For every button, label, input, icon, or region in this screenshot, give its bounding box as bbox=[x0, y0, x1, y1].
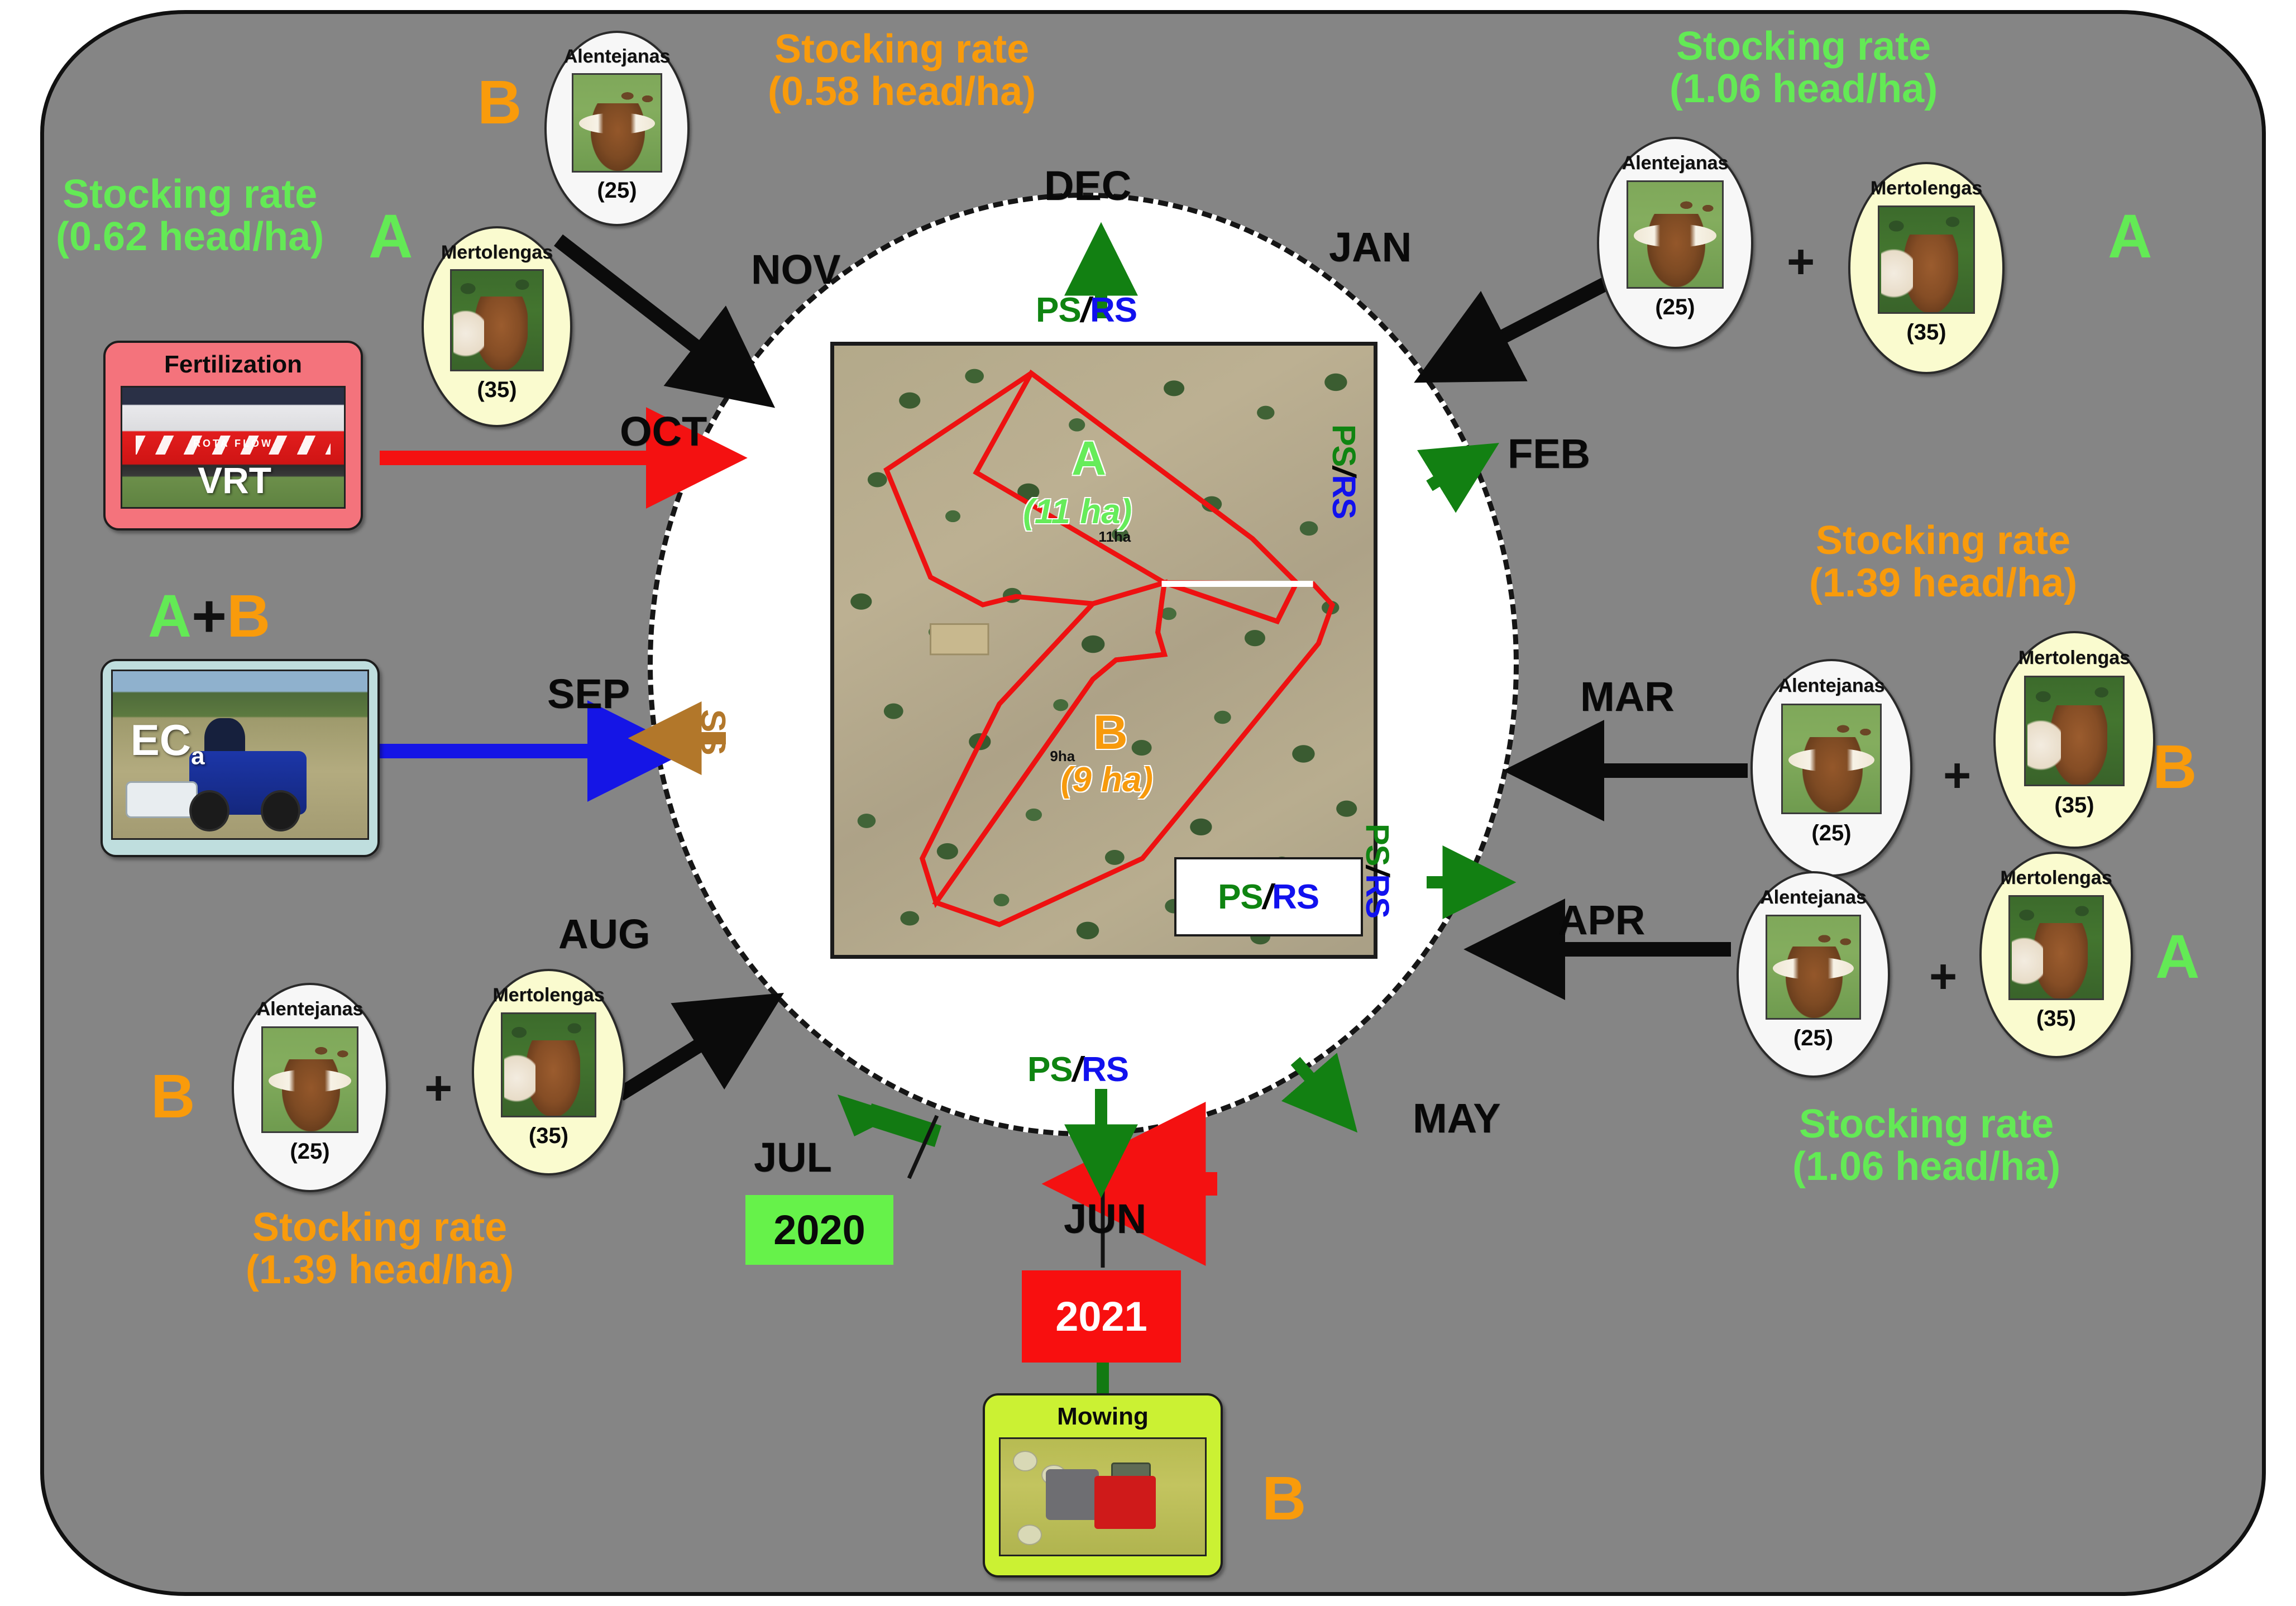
month-sep: SEP bbox=[547, 670, 630, 718]
mertolengas-photo bbox=[450, 269, 544, 371]
month-jul: JUL bbox=[754, 1134, 832, 1181]
month-dec: DEC bbox=[1044, 162, 1131, 209]
stocking-rate-line1: Stocking rate bbox=[1809, 519, 2077, 562]
diagram-canvas: A (11 ha) 11ha B 9ha (9 ha) PS/RS PS/RS … bbox=[0, 0, 2296, 1606]
breed-count: (25) bbox=[1655, 295, 1695, 320]
paddock-letter-mar-b: B bbox=[2152, 732, 2197, 802]
breed-count: (25) bbox=[597, 178, 637, 203]
plus-sign-aug: + bbox=[424, 1061, 452, 1116]
alentejanas-photo bbox=[1766, 915, 1861, 1020]
stocking-rate-line1: Stocking rate bbox=[1792, 1103, 2060, 1145]
cattle-mertolengas-jan[interactable]: Mertolengas (35) bbox=[1848, 162, 2005, 374]
stocking-rate-line2: (1.39 head/ha) bbox=[1809, 562, 2077, 604]
stocking-rate-nov-b: Stocking rate (0.58 head/ha) bbox=[768, 28, 1036, 113]
cattle-alentejanas-mar[interactable]: Alentejanas (25) bbox=[1750, 659, 1912, 877]
stocking-rate-line2: (1.06 head/ha) bbox=[1792, 1145, 2060, 1188]
month-feb: FEB bbox=[1508, 430, 1590, 477]
stocking-rate-line2: (0.62 head/ha) bbox=[56, 216, 324, 258]
paddock-letter-nov-b: B bbox=[477, 67, 522, 138]
stocking-rate-line2: (1.06 head/ha) bbox=[1670, 68, 1938, 110]
rs-label: RS bbox=[1272, 878, 1319, 916]
paddock-letter-jan-a: A bbox=[2108, 201, 2152, 272]
fertilization-card[interactable]: Fertilization ROTA FLOW VRT bbox=[103, 341, 363, 530]
paddock-a-area-small: 11ha bbox=[1098, 528, 1131, 546]
eca-overlay-label: ECa bbox=[131, 715, 205, 771]
stocking-rate-line1: Stocking rate bbox=[768, 28, 1036, 70]
wheel-front bbox=[189, 790, 229, 831]
paddock-letter-b: B bbox=[227, 582, 270, 649]
paddock-letter-a: A bbox=[148, 582, 192, 649]
plus-sign-eca: + bbox=[192, 582, 227, 649]
paddock-b-letter: B bbox=[1093, 705, 1128, 761]
cattle-alentejanas-jan[interactable]: Alentejanas (25) bbox=[1597, 137, 1753, 349]
stocking-rate-line1: Stocking rate bbox=[1670, 25, 1938, 68]
slash-label: / bbox=[1263, 878, 1272, 916]
breed-count: (25) bbox=[1793, 1026, 1833, 1051]
psrs-may: PS/RS bbox=[1359, 824, 1396, 918]
breed-count: (35) bbox=[2054, 793, 2094, 818]
stocking-rate-oct-a: Stocking rate (0.62 head/ha) bbox=[56, 173, 324, 259]
paddock-letter-mowing-b: B bbox=[1262, 1463, 1306, 1534]
stocking-rate-apr-a: Stocking rate (1.06 head/ha) bbox=[1792, 1103, 2060, 1188]
cattle-mertolengas-nov[interactable]: Mertolengas (35) bbox=[422, 226, 572, 427]
ss-label: SS bbox=[693, 709, 733, 756]
plus-sign-jan: + bbox=[1787, 235, 1815, 290]
cattle-alentejanas-apr[interactable]: Alentejanas (25) bbox=[1737, 871, 1890, 1078]
cattle-mertolengas-aug[interactable]: Mertolengas (35) bbox=[472, 969, 625, 1175]
vrt-overlay-label: VRT bbox=[198, 459, 271, 501]
breed-count: (35) bbox=[529, 1124, 568, 1149]
ps-label: PS bbox=[1218, 878, 1263, 916]
breed-name: Alentejanas bbox=[1760, 887, 1867, 909]
mertolengas-photo bbox=[2024, 676, 2125, 787]
plus-sign-apr: + bbox=[1929, 949, 1957, 1005]
eca-group-letters: A+B bbox=[148, 581, 270, 651]
fertilizer-spreader-photo: ROTA FLOW VRT bbox=[121, 386, 345, 508]
wheel-rear bbox=[261, 790, 301, 831]
stocking-rate-aug-b: Stocking rate (1.39 head/ha) bbox=[246, 1206, 514, 1292]
hay-bale bbox=[1013, 1451, 1037, 1471]
month-may: MAY bbox=[1413, 1094, 1501, 1142]
stocking-rate-line1: Stocking rate bbox=[56, 173, 324, 216]
psrs-legend-box: PS/RS bbox=[1174, 857, 1363, 936]
breed-name: Alentejanas bbox=[257, 998, 363, 1020]
eca-quad-photo: ECa bbox=[111, 670, 369, 840]
mowing-title: Mowing bbox=[1057, 1403, 1149, 1431]
breed-name: Mertolengas bbox=[441, 242, 553, 264]
paddock-letter-oct-a: A bbox=[369, 201, 413, 272]
alentejanas-photo bbox=[572, 73, 662, 173]
tractor-body bbox=[1094, 1476, 1156, 1529]
eca-survey-card[interactable]: ECa bbox=[101, 659, 380, 857]
psrs-jun: PS/RS bbox=[1027, 1050, 1128, 1089]
breed-name: Mertolengas bbox=[492, 984, 604, 1006]
stocking-rate-line2: (0.58 head/ha) bbox=[768, 70, 1036, 113]
mertolengas-photo bbox=[2008, 895, 2104, 1000]
eca-sensor-sled bbox=[126, 781, 198, 818]
breed-count: (35) bbox=[1906, 320, 1946, 345]
breed-name: Mertolengas bbox=[1871, 178, 1982, 199]
psrs-dec: PS/RS bbox=[1036, 290, 1137, 330]
month-nov: NOV bbox=[751, 246, 840, 293]
satellite-paddock-map: A (11 ha) 11ha B 9ha (9 ha) PS/RS bbox=[830, 342, 1377, 959]
cattle-mertolengas-apr[interactable]: Mertolengas (35) bbox=[1979, 852, 2133, 1058]
month-mar: MAR bbox=[1580, 673, 1675, 720]
stocking-rate-line2: (1.39 head/ha) bbox=[246, 1249, 514, 1291]
paddock-letter-apr-a: A bbox=[2155, 921, 2199, 992]
breed-name: Mertolengas bbox=[2000, 867, 2112, 889]
alentejanas-photo bbox=[261, 1026, 358, 1133]
alentejanas-photo bbox=[1627, 180, 1724, 288]
round-baler bbox=[1046, 1469, 1099, 1520]
breed-name: Alentejanas bbox=[1778, 675, 1885, 697]
month-apr: APR bbox=[1558, 896, 1645, 944]
breed-count: (35) bbox=[477, 377, 516, 403]
month-aug: AUG bbox=[558, 910, 650, 958]
paddock-letter-aug-b: B bbox=[151, 1061, 195, 1132]
machine-brand-label: ROTA FLOW bbox=[189, 438, 277, 452]
alentejanas-photo bbox=[1781, 704, 1882, 815]
psrs-feb: PS/RS bbox=[1325, 424, 1362, 519]
breed-count: (25) bbox=[290, 1139, 329, 1164]
mertolengas-photo bbox=[501, 1012, 596, 1117]
fertilization-title: Fertilization bbox=[164, 351, 302, 379]
breed-count: (35) bbox=[2036, 1006, 2076, 1031]
plus-sign-mar: + bbox=[1943, 748, 1971, 804]
stocking-rate-line1: Stocking rate bbox=[246, 1206, 514, 1249]
cattle-mertolengas-mar[interactable]: Mertolengas (35) bbox=[1993, 631, 2155, 849]
breed-name: Alentejanas bbox=[1622, 152, 1729, 174]
mowing-baler-photo bbox=[999, 1437, 1206, 1556]
breed-count: (25) bbox=[1811, 821, 1851, 846]
month-jun: JUN bbox=[1064, 1195, 1146, 1242]
hay-bale bbox=[1017, 1524, 1042, 1545]
mertolengas-photo bbox=[1878, 205, 1975, 313]
stocking-rate-mar-b: Stocking rate (1.39 head/ha) bbox=[1809, 519, 2077, 605]
stocking-rate-jan-a: Stocking rate (1.06 head/ha) bbox=[1670, 25, 1938, 111]
paddock-a-letter: A bbox=[1072, 431, 1106, 486]
month-oct: OCT bbox=[620, 408, 707, 455]
breed-name: Alentejanas bbox=[564, 46, 671, 68]
year-2021-badge: 2021 bbox=[1022, 1270, 1181, 1363]
cattle-alentejanas-nov[interactable]: Alentejanas (25) bbox=[544, 31, 690, 226]
paddock-a-area: (11 ha) bbox=[1023, 492, 1132, 532]
year-2020-badge: 2020 bbox=[745, 1195, 893, 1265]
breed-name: Mertolengas bbox=[2018, 647, 2130, 669]
month-jan: JAN bbox=[1329, 223, 1412, 271]
mowing-card[interactable]: Mowing bbox=[983, 1393, 1223, 1578]
paddock-b-area: (9 ha) bbox=[1061, 760, 1153, 800]
cattle-alentejanas-aug[interactable]: Alentejanas (25) bbox=[232, 983, 388, 1192]
